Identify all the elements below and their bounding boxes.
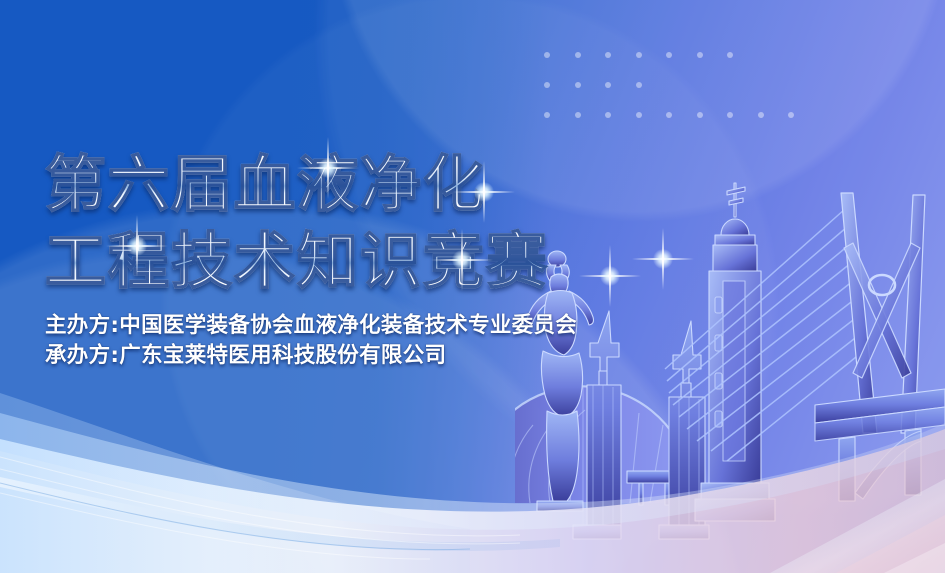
banner-text-block: 第六届血液净化 工程技术知识竞赛 主办方:中国医学装备协会血液净化装备技术专业委… — [45, 148, 577, 370]
banner-title-line-1: 第六届血液净化 — [45, 148, 577, 221]
banner-host-line: 承办方:广东宝莱特医用科技股份有限公司 — [45, 342, 577, 370]
grid-dot — [605, 52, 611, 58]
dot-grid-decoration — [544, 52, 794, 142]
dot-grid-row — [544, 112, 794, 118]
grid-dot — [666, 112, 672, 118]
grid-dot — [666, 52, 672, 58]
banner-organizer-line: 主办方:中国医学装备协会血液净化装备技术专业委员会 — [45, 312, 577, 340]
grid-dot — [636, 82, 642, 88]
grid-dot — [575, 112, 581, 118]
dot-grid-row — [544, 52, 794, 58]
grid-dot — [544, 82, 550, 88]
grid-dot — [605, 82, 611, 88]
grid-dot — [575, 82, 581, 88]
grid-dot — [758, 112, 764, 118]
event-banner: 第六届血液净化 工程技术知识竞赛 主办方:中国医学装备协会血液净化装备技术专业委… — [0, 0, 945, 573]
banner-title-line-2: 工程技术知识竞赛 — [45, 225, 577, 298]
ribbon-left-wash — [0, 393, 470, 573]
grid-dot — [636, 112, 642, 118]
grid-dot — [575, 52, 581, 58]
dot-grid-row — [544, 82, 794, 88]
grid-dot — [605, 112, 611, 118]
grid-dot — [727, 52, 733, 58]
grid-dot — [544, 112, 550, 118]
grid-dot — [697, 52, 703, 58]
grid-dot — [544, 52, 550, 58]
grid-dot — [636, 52, 642, 58]
grid-dot — [697, 112, 703, 118]
grid-dot — [788, 112, 794, 118]
grid-dot — [727, 112, 733, 118]
